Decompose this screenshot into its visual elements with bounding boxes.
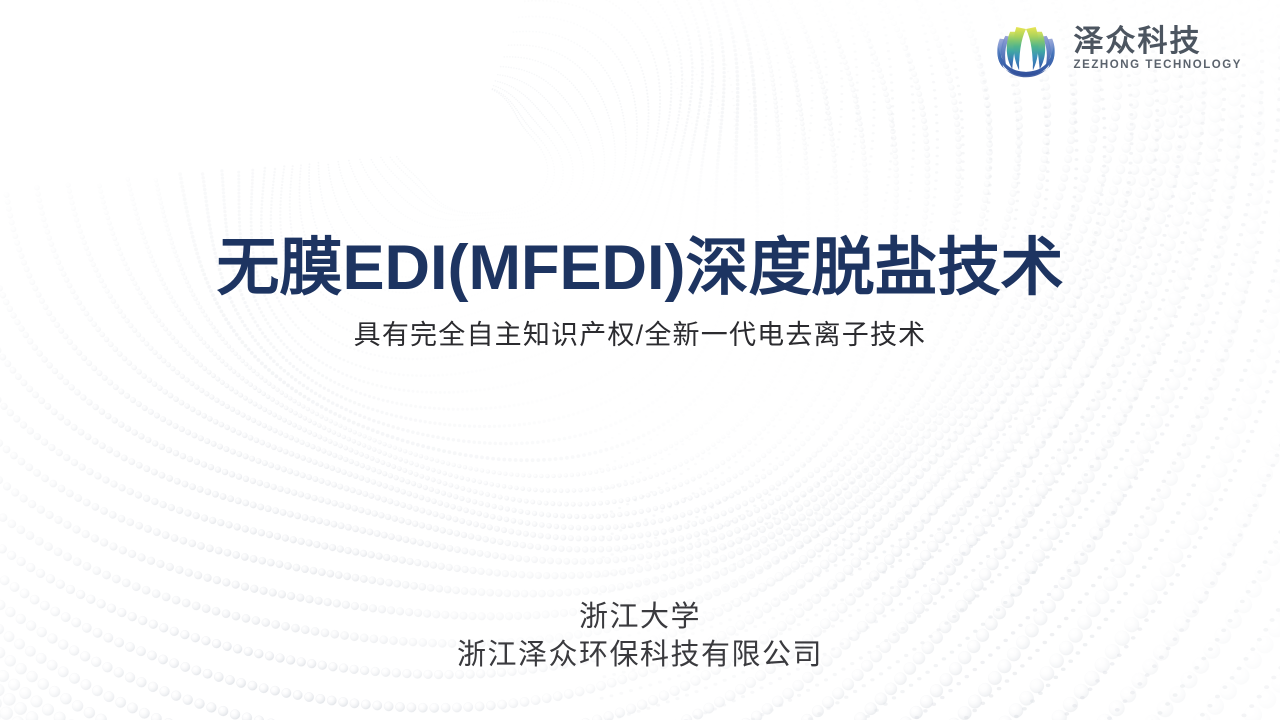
- title-block: 无膜EDI(MFEDI)深度脱盐技术 具有完全自主知识产权/全新一代电去离子技术: [0, 236, 1280, 351]
- logo-company-name-en: ZEZHONG TECHNOLOGY: [1074, 60, 1242, 72]
- slide-main-title: 无膜EDI(MFEDI)深度脱盐技术: [0, 236, 1280, 302]
- organization-line-university: 浙江大学: [0, 598, 1280, 636]
- title-slide: 泽众科技 ZEZHONG TECHNOLOGY 无膜EDI(MFEDI)深度脱盐…: [0, 0, 1280, 720]
- slide-subtitle: 具有完全自主知识产权/全新一代电去离子技术: [0, 319, 1280, 351]
- organization-block: 浙江大学 浙江泽众环保科技有限公司: [0, 598, 1280, 675]
- organization-line-company: 浙江泽众环保科技有限公司: [0, 636, 1280, 674]
- logo-company-name-cn: 泽众科技: [1074, 27, 1242, 57]
- lotus-waterdrop-logo-icon: [991, 18, 1061, 80]
- logo-text-block: 泽众科技 ZEZHONG TECHNOLOGY: [1074, 27, 1242, 72]
- company-logo: 泽众科技 ZEZHONG TECHNOLOGY: [991, 18, 1242, 80]
